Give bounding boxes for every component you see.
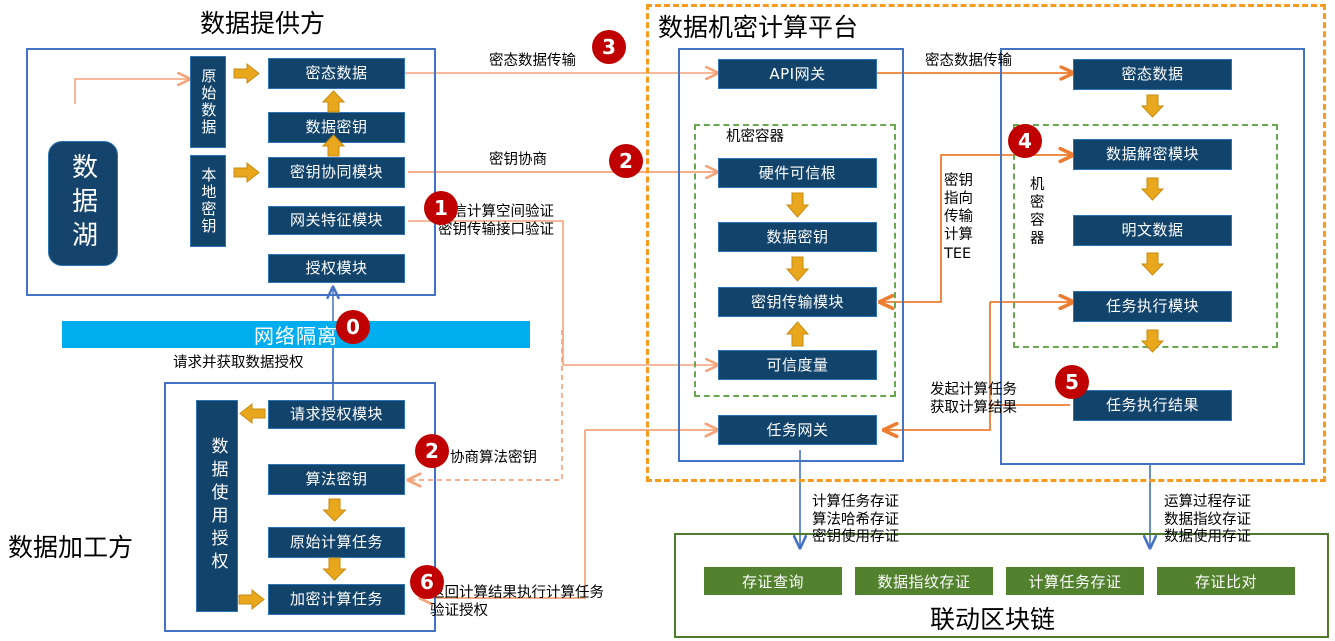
data-use-authorization-box[interactable]: 数据使用授权 — [196, 400, 238, 612]
step-badge-6: 6 — [410, 565, 444, 599]
chevron-down-icon — [1141, 176, 1165, 202]
chevron-right-icon — [232, 161, 262, 185]
provider-box-key-coop-module[interactable]: 密钥协同模块 — [268, 157, 405, 188]
step-badge-0: 0 — [336, 310, 370, 344]
label-evidence-right: 运算过程存证 数据指纹存证 数据使用存证 — [1164, 494, 1251, 547]
platform-box-key-transfer-module[interactable]: 密钥传输模块 — [718, 287, 877, 317]
label-launch-task: 发起计算任务 获取计算结果 — [930, 382, 1017, 417]
processor-box-algo-key[interactable]: 算法密钥 — [268, 464, 405, 495]
platform-box-trusted-measurement[interactable]: 可信度量 — [718, 350, 877, 380]
chevron-down-icon — [786, 255, 810, 283]
platform-box-plaintext-data[interactable]: 明文数据 — [1073, 215, 1232, 246]
label-request-data-auth: 请求并获取数据授权 — [173, 355, 304, 373]
platform-box-task-gateway[interactable]: 任务网关 — [718, 415, 877, 445]
label-cipher-transfer-left: 密态数据传输 — [489, 53, 576, 71]
confidential-container-left-label: 机密容器 — [726, 129, 784, 147]
step-badge-1: 1 — [424, 191, 458, 225]
chevron-up-icon — [322, 90, 346, 114]
blockchain-button-data-fingerprint[interactable]: 数据指纹存证 — [855, 567, 993, 595]
platform-box-task-exec-result[interactable]: 任务执行结果 — [1073, 390, 1232, 421]
network-isolation-bar: 网络隔离 — [62, 321, 530, 348]
chevron-right-icon — [232, 62, 262, 86]
platform-box-data-key[interactable]: 数据密钥 — [718, 222, 877, 252]
processor-title: 数据加工方 — [8, 528, 133, 564]
confidential-container-right-label: 机密容器 — [1030, 176, 1045, 249]
chevron-down-icon — [1141, 328, 1165, 354]
provider-box-cipher-data[interactable]: 密态数据 — [268, 58, 405, 89]
chevron-right-icon — [237, 588, 267, 612]
data-lake-box[interactable]: 数据湖 — [48, 141, 118, 266]
architecture-diagram: 数据提供方 数据机密计算平台 数据加工方 数据湖 原始数据 本地密钥 密态数据 … — [0, 0, 1335, 641]
chevron-down-icon — [322, 556, 348, 582]
blockchain-button-compute-task-evidence[interactable]: 计算任务存证 — [1006, 567, 1144, 595]
label-return-result: 返回计算结果执行计算任务 验证授权 — [430, 585, 604, 620]
platform-box-api-gateway[interactable]: API网关 — [718, 59, 877, 89]
provider-title: 数据提供方 — [200, 4, 325, 40]
step-badge-4: 4 — [1008, 124, 1042, 158]
processor-box-encrypted-compute-task[interactable]: 加密计算任务 — [268, 584, 405, 615]
processor-box-raw-compute-task[interactable]: 原始计算任务 — [268, 527, 405, 558]
chevron-left-icon — [237, 402, 267, 426]
blockchain-button-evidence-query[interactable]: 存证查询 — [704, 567, 842, 595]
label-key-negotiation: 密钥协商 — [489, 152, 547, 170]
platform-box-hw-root-of-trust[interactable]: 硬件可信根 — [718, 158, 877, 188]
step-badge-5: 5 — [1055, 365, 1089, 399]
chevron-down-icon — [322, 497, 348, 523]
step-badge-2: 2 — [609, 144, 643, 178]
local-key-box[interactable]: 本地密钥 — [190, 155, 226, 247]
label-evidence-left: 计算任务存证 算法哈希存证 密钥使用存证 — [812, 494, 899, 547]
label-key-points-tee: 密钥指向传输计算TEE — [944, 172, 974, 263]
blockchain-button-evidence-compare[interactable]: 存证比对 — [1157, 567, 1295, 595]
chevron-up-icon — [786, 320, 810, 348]
chevron-down-icon — [1141, 93, 1165, 119]
platform-box-cipher-data-right[interactable]: 密态数据 — [1073, 59, 1232, 90]
platform-box-data-decrypt-module[interactable]: 数据解密模块 — [1073, 139, 1232, 170]
step-badge-2b: 2 — [415, 434, 449, 468]
label-negotiate-algo-key: 协商算法密钥 — [450, 450, 537, 468]
platform-box-task-exec-module[interactable]: 任务执行模块 — [1073, 291, 1232, 322]
chevron-down-icon — [786, 191, 810, 219]
label-cipher-transfer-right: 密态数据传输 — [925, 53, 1012, 71]
chevron-down-icon — [1141, 251, 1165, 277]
step-badge-3: 3 — [592, 30, 626, 64]
provider-box-auth-module[interactable]: 授权模块 — [268, 254, 405, 283]
raw-data-box[interactable]: 原始数据 — [190, 56, 226, 148]
chevron-up-icon — [322, 134, 346, 158]
provider-box-gateway-feature-module[interactable]: 网关特征模块 — [268, 206, 405, 235]
processor-box-request-auth-module[interactable]: 请求授权模块 — [268, 400, 405, 429]
blockchain-title: 联动区块链 — [930, 600, 1055, 636]
